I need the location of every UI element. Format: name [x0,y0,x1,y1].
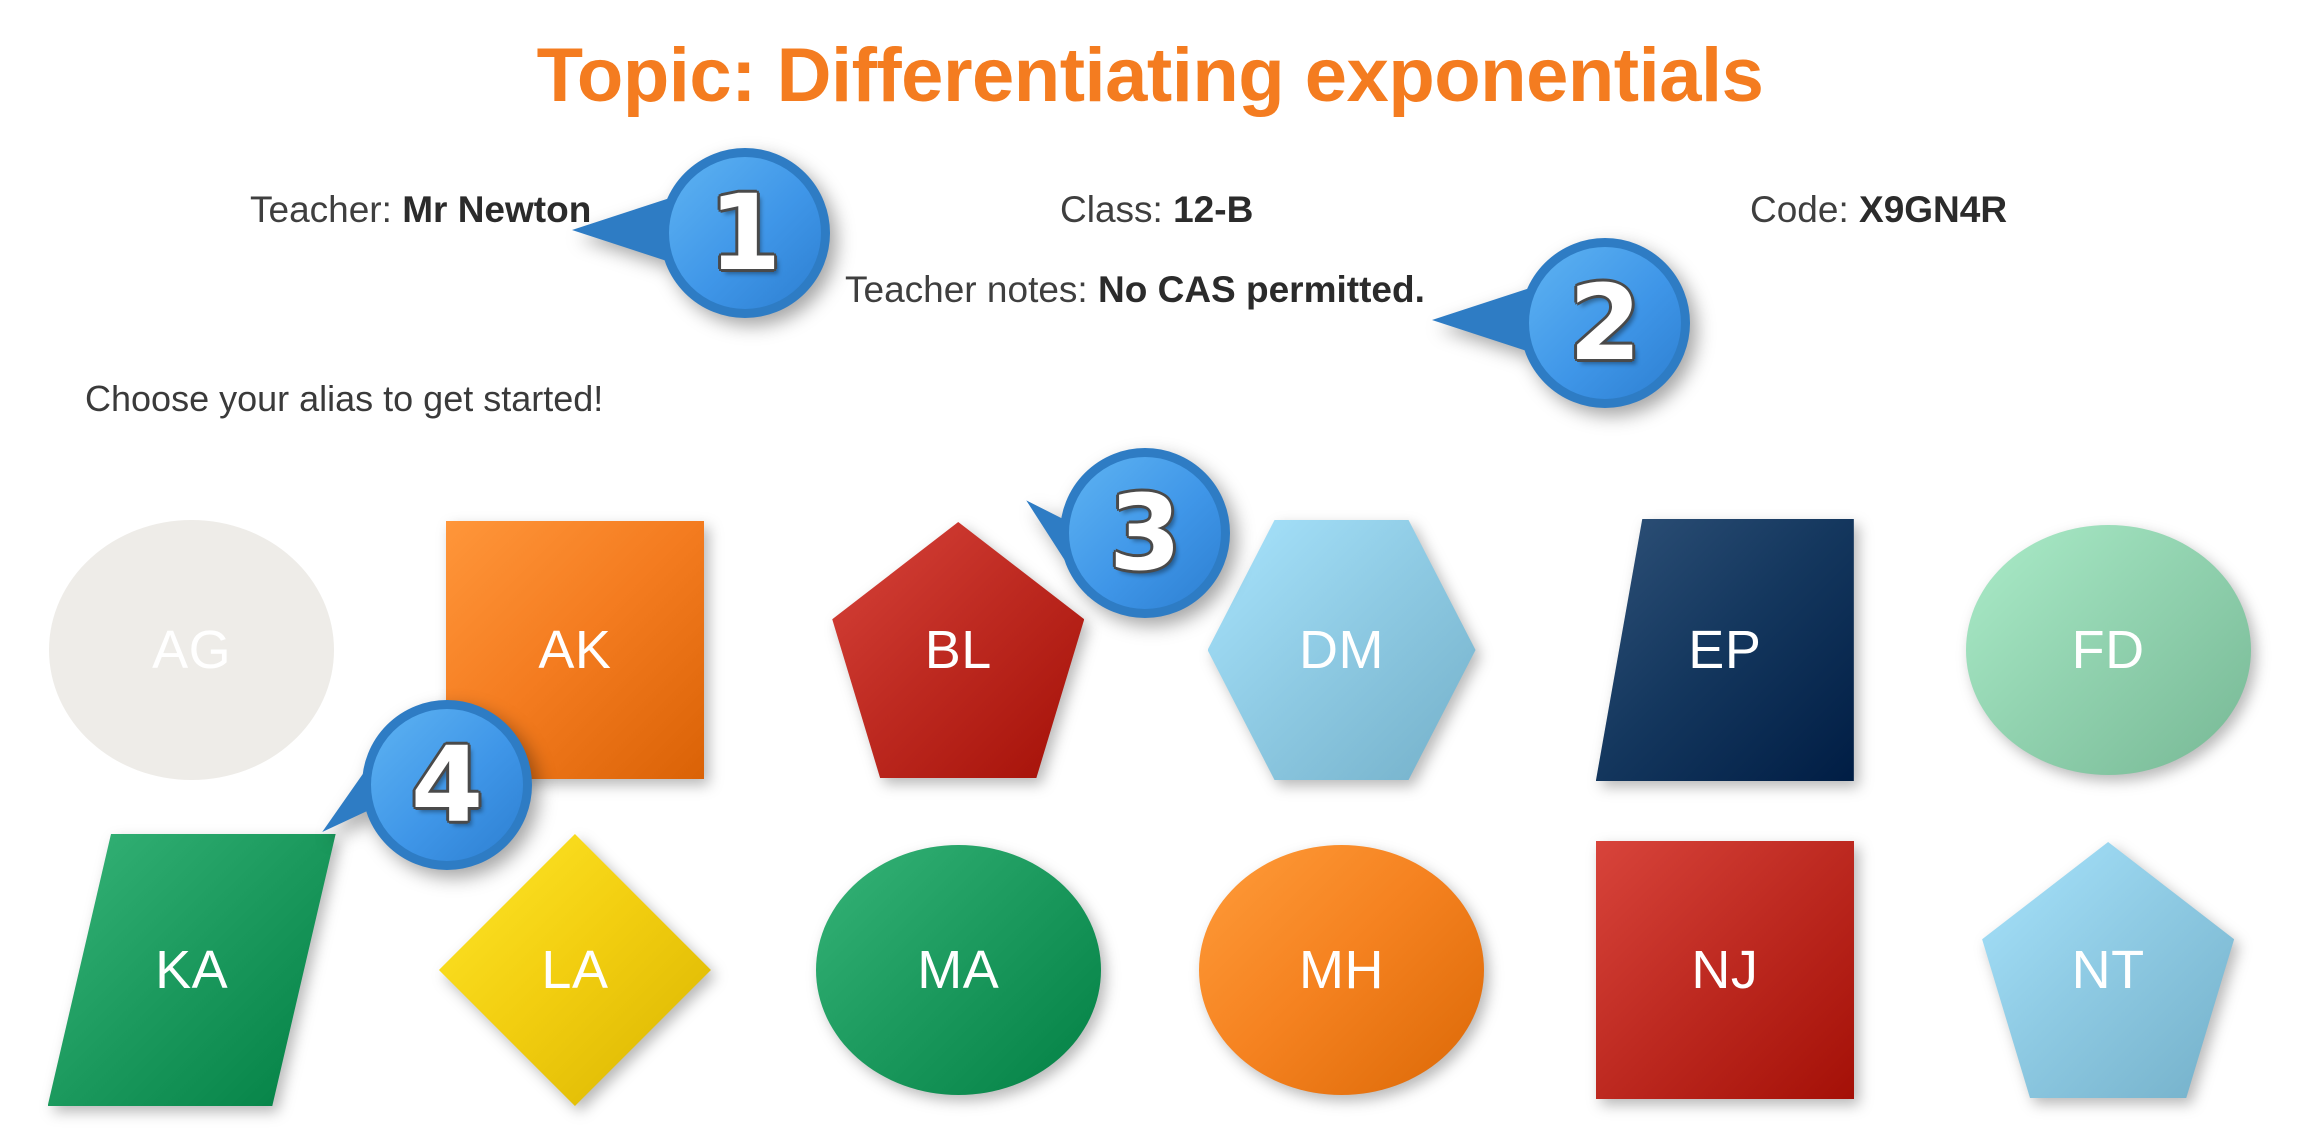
alias-row-2: KALAMAMHNJNT [0,820,2300,1120]
callout-number: 4 [362,700,532,870]
class-field: Class: 12-B [1060,190,1253,231]
alias-cell-FD[interactable]: FD [1916,500,2299,800]
alias-button-BL[interactable]: BL [832,522,1084,778]
callout-badge-3[interactable]: 3 [1060,448,1230,618]
alias-cell-MA[interactable]: MA [767,820,1150,1120]
slide-canvas: Topic: Differentiating exponentials Teac… [0,0,2300,1140]
callout-badge-1[interactable]: 1 [660,148,830,318]
code-field: Code: X9GN4R [1750,190,2007,231]
teacher-field: Teacher: Mr Newton [250,190,591,231]
alias-shape-diamond-icon [439,834,711,1106]
alias-shape-pentagon-icon [1982,842,2234,1098]
callout-number: 3 [1060,448,1230,618]
alias-shape-ellipse-icon [1199,845,1484,1095]
code-label: Code: [1750,189,1849,230]
callout-number: 1 [660,148,830,318]
alias-cell-NT[interactable]: NT [1916,820,2299,1120]
class-value: 12-B [1173,189,1253,230]
class-label: Class: [1060,189,1163,230]
alias-button-DM[interactable]: DM [1208,520,1476,780]
alias-shape-parallelogram-icon [48,834,336,1106]
alias-cell-KA[interactable]: KA [0,820,383,1120]
alias-button-FD[interactable]: FD [1966,525,2251,775]
alias-shape-pentagon-icon [832,522,1084,778]
alias-cell-NJ[interactable]: NJ [1533,820,1916,1120]
alias-shape-ellipse-icon [1966,525,2251,775]
alias-cell-MH[interactable]: MH [1150,820,1533,1120]
instruction-text: Choose your alias to get started! [85,378,603,420]
alias-shape-hexagon-icon [1208,520,1476,780]
alias-button-KA[interactable]: KA [48,834,336,1106]
alias-shape-ellipse-icon [816,845,1101,1095]
code-value: X9GN4R [1859,189,2007,230]
alias-shape-circle-icon [49,520,334,780]
teacher-notes-label: Teacher notes: [845,269,1088,310]
alias-button-NT[interactable]: NT [1982,842,2234,1098]
alias-button-MH[interactable]: MH [1199,845,1484,1095]
teacher-label: Teacher: [250,189,392,230]
alias-button-AG: AG [49,520,334,780]
callout-number: 2 [1520,238,1690,408]
callout-badge-2[interactable]: 2 [1520,238,1690,408]
callout-badge-4[interactable]: 4 [362,700,532,870]
alias-shape-square-icon [1596,841,1854,1099]
teacher-notes-field: Teacher notes: No CAS permitted. [845,270,1425,311]
alias-cell-EP[interactable]: EP [1533,500,1916,800]
alias-button-LA[interactable]: LA [439,834,711,1106]
alias-button-NJ[interactable]: NJ [1596,841,1854,1099]
alias-button-EP[interactable]: EP [1596,519,1854,781]
alias-button-MA[interactable]: MA [816,845,1101,1095]
alias-shape-trapezoid-icon [1596,519,1854,781]
page-title: Topic: Differentiating exponentials [0,38,2300,114]
teacher-value: Mr Newton [402,189,591,230]
alias-cell-AG: AG [0,500,383,800]
teacher-notes-value: No CAS permitted. [1098,269,1425,310]
